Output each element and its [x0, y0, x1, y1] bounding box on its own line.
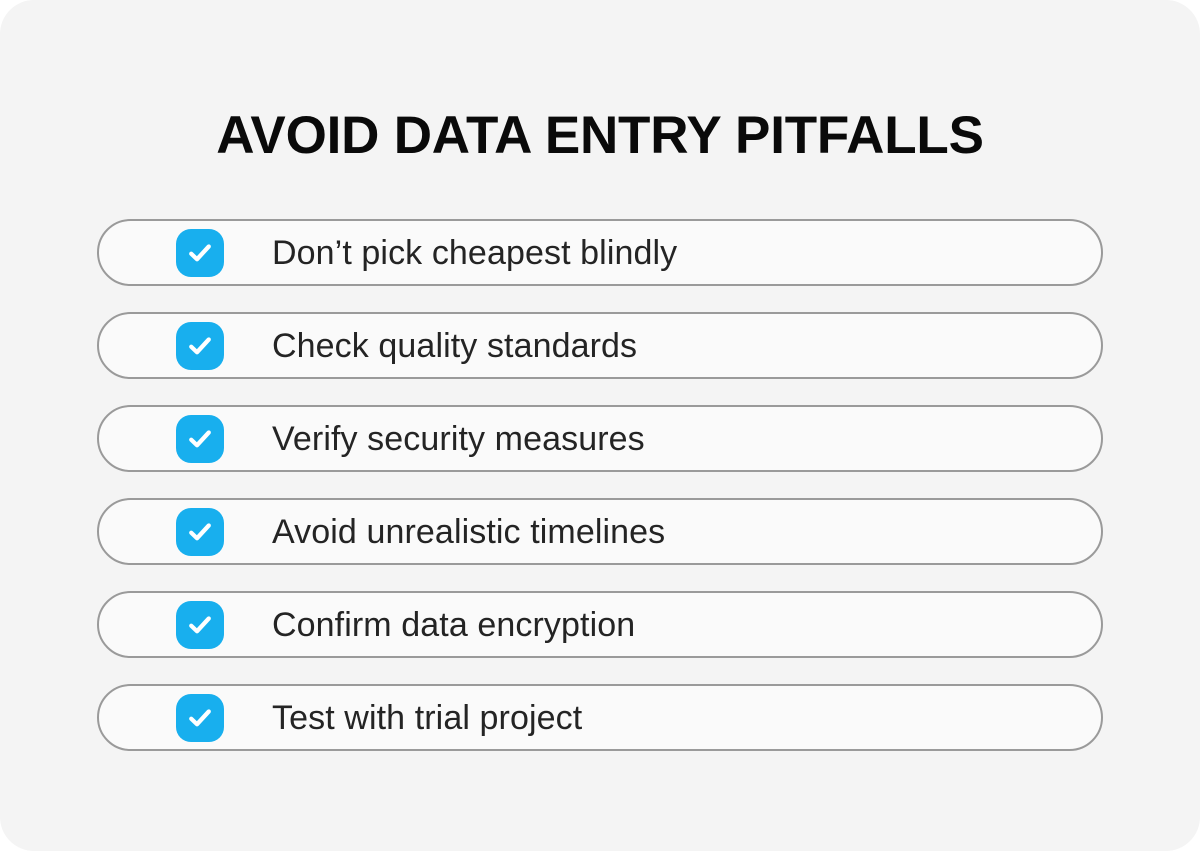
list-item[interactable]: Verify security measures — [97, 405, 1103, 472]
list-item-label: Don’t pick cheapest blindly — [272, 233, 1101, 273]
check-icon — [185, 517, 215, 547]
list-item[interactable]: Check quality standards — [97, 312, 1103, 379]
list-item[interactable]: Avoid unrealistic timelines — [97, 498, 1103, 565]
checkbox-checked[interactable] — [176, 694, 224, 742]
checklist: Don’t pick cheapest blindly Check qualit… — [97, 219, 1103, 751]
list-item-label: Test with trial project — [272, 698, 1101, 738]
list-item-label: Check quality standards — [272, 326, 1101, 366]
list-item-label: Confirm data encryption — [272, 605, 1101, 645]
list-item-label: Avoid unrealistic timelines — [272, 512, 1101, 552]
list-item-label: Verify security measures — [272, 419, 1101, 459]
checkbox-checked[interactable] — [176, 322, 224, 370]
checkbox-checked[interactable] — [176, 601, 224, 649]
checkbox-checked[interactable] — [176, 508, 224, 556]
check-icon — [185, 238, 215, 268]
checklist-card: AVOID DATA ENTRY PITFALLS Don’t pick che… — [0, 0, 1200, 851]
checkbox-checked[interactable] — [176, 415, 224, 463]
check-icon — [185, 331, 215, 361]
list-item[interactable]: Confirm data encryption — [97, 591, 1103, 658]
check-icon — [185, 703, 215, 733]
checkbox-checked[interactable] — [176, 229, 224, 277]
list-item[interactable]: Test with trial project — [97, 684, 1103, 751]
check-icon — [185, 424, 215, 454]
check-icon — [185, 610, 215, 640]
page-title: AVOID DATA ENTRY PITFALLS — [0, 104, 1200, 168]
list-item[interactable]: Don’t pick cheapest blindly — [97, 219, 1103, 286]
